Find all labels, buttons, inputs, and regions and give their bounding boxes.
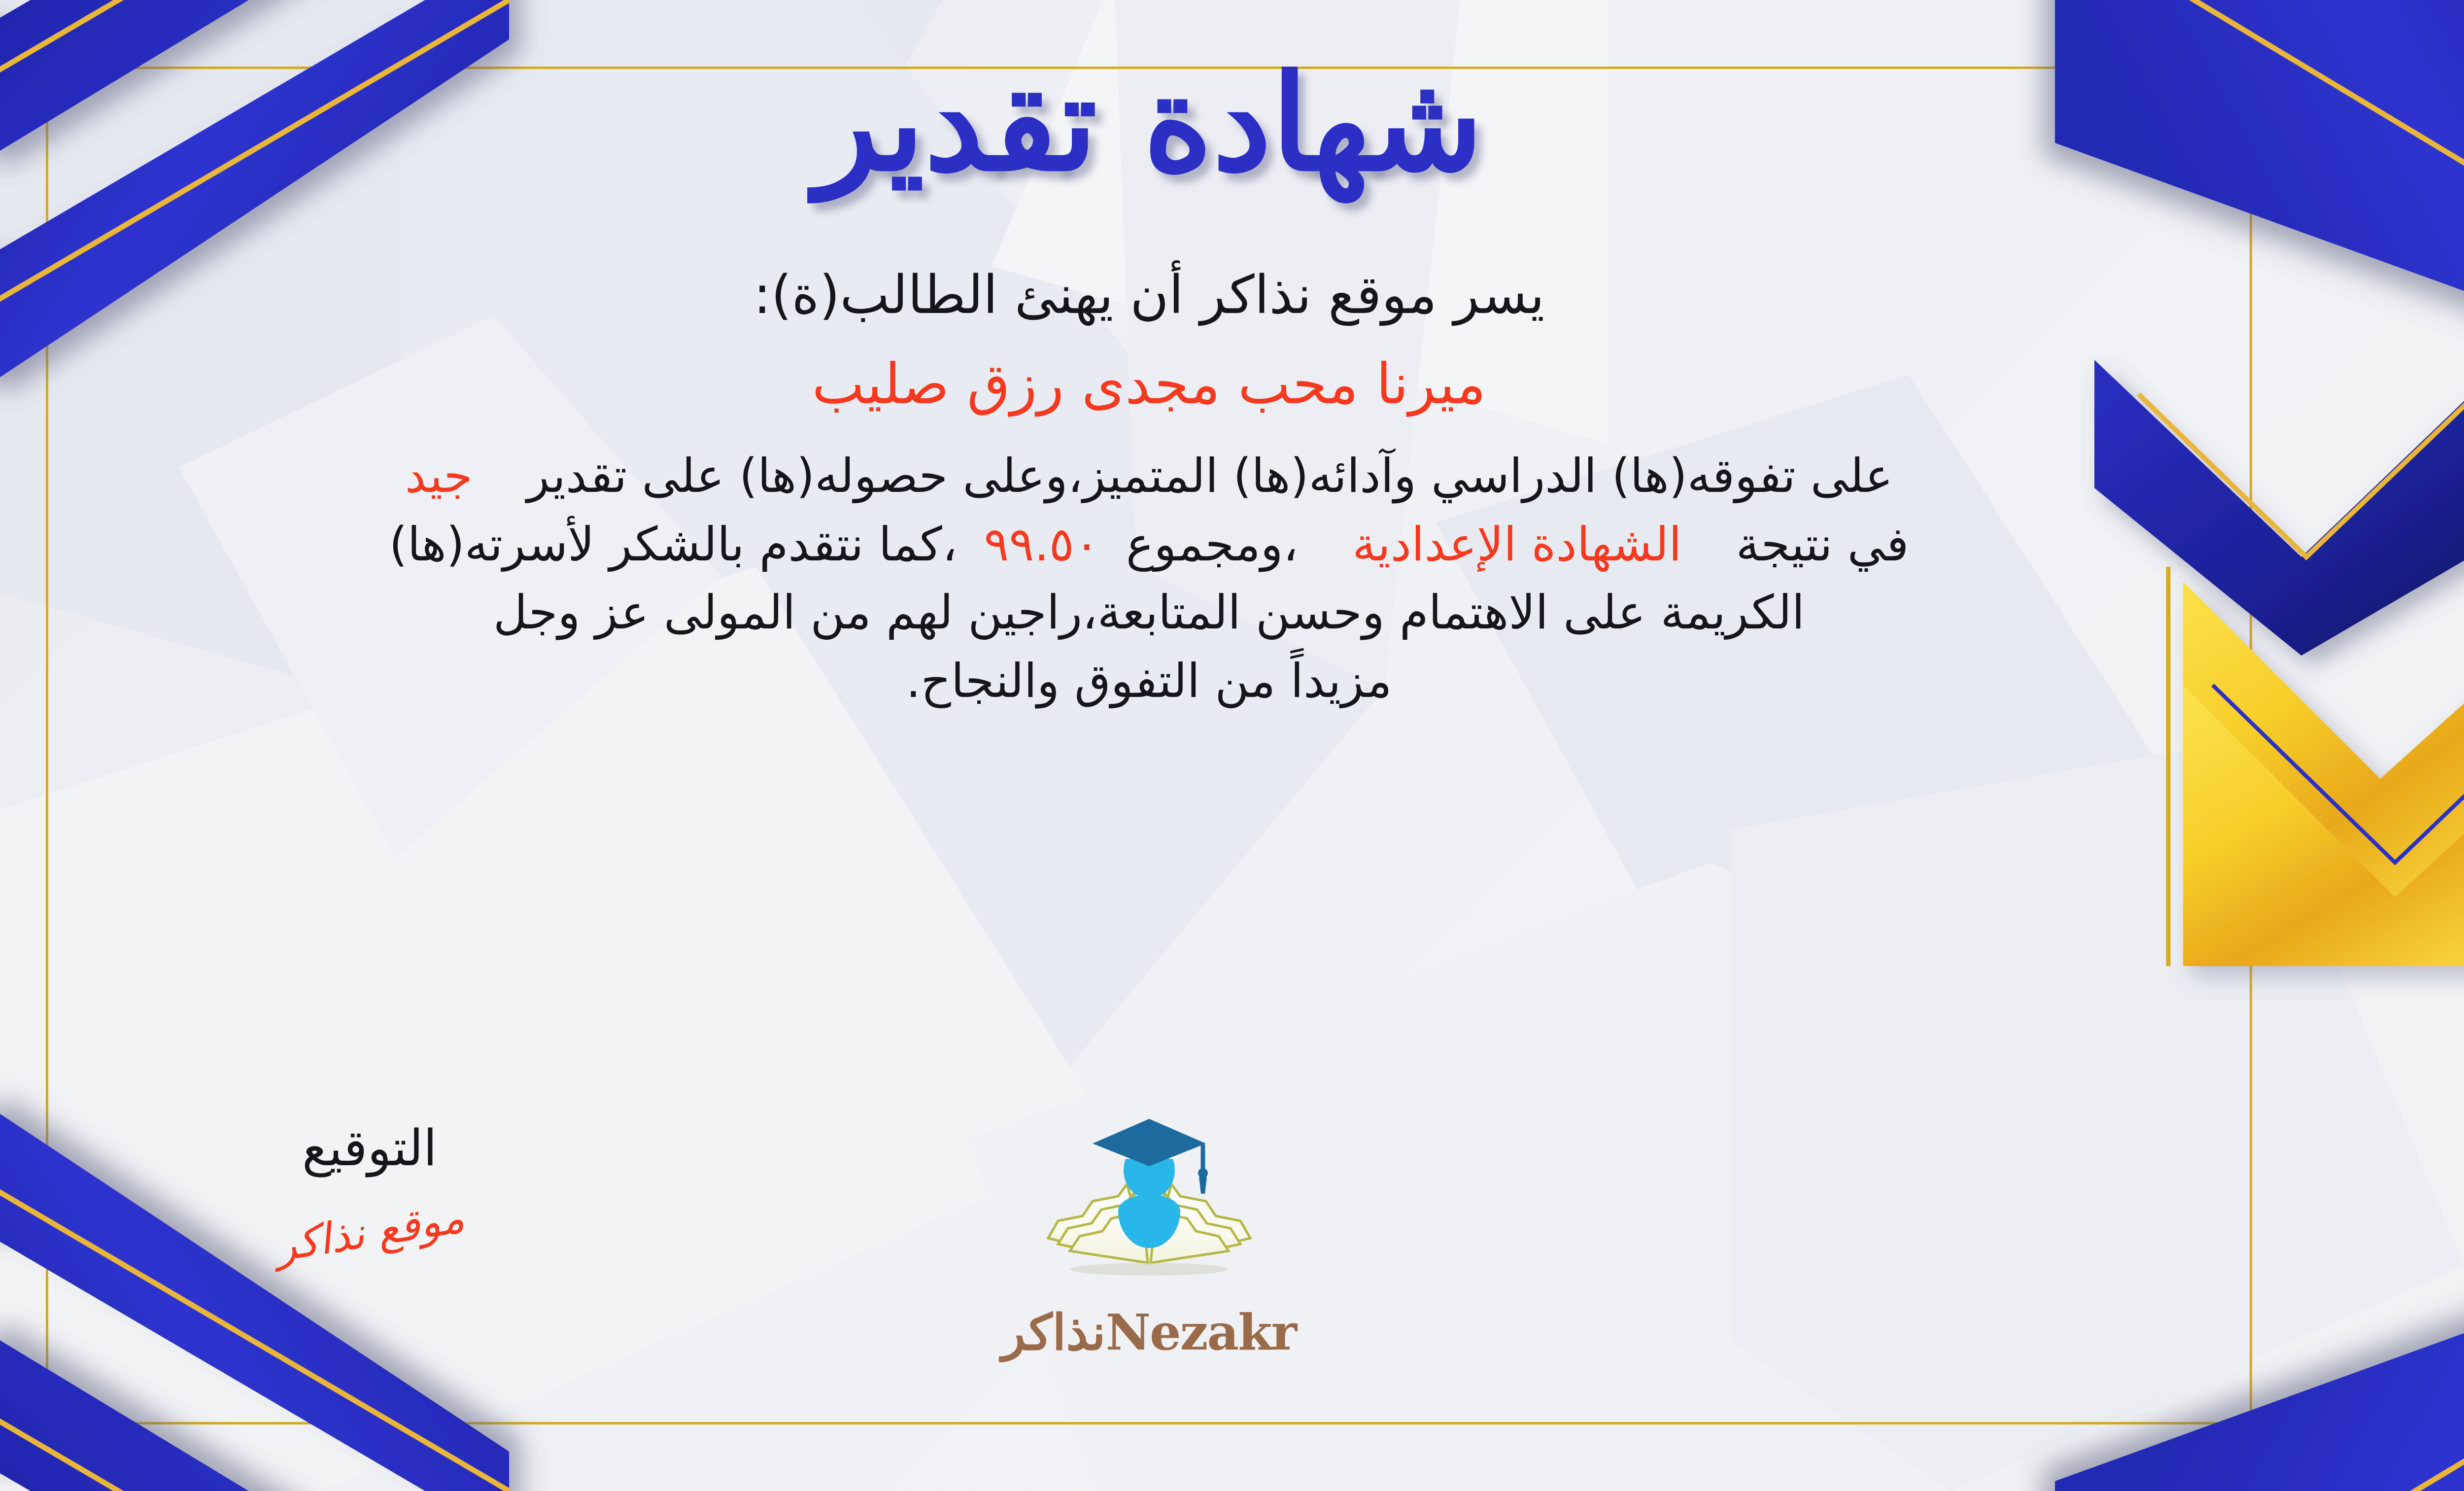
certificate-page: شهادة تقدير يسر موقع نذاكر أن يهنئ الطال… bbox=[0, 0, 2464, 1491]
student-name: ميرنا محب مجدى رزق صليب bbox=[812, 351, 1486, 416]
total-score: ٩٩.٥٠ bbox=[984, 511, 1099, 579]
logo-name-en: Nezakr bbox=[1106, 1303, 1297, 1361]
body-line-4-prefix: في نتيجة bbox=[1736, 511, 1909, 579]
certificate-name: الشهادة الإعدادية bbox=[1352, 511, 1681, 579]
body-line-4: في نتيجة الشهادة الإعدادية ،ومجموع ٩٩.٥٠… bbox=[53, 511, 2246, 579]
body-line-6: مزيداً من التفوق والنجاح. bbox=[53, 647, 2246, 716]
logo-wordmark: Nezakrنذاكر bbox=[962, 1303, 1336, 1361]
logo-name-ar: نذاكر bbox=[1002, 1303, 1106, 1361]
signature-block: التوقيع موقع نذاكر bbox=[197, 1119, 542, 1257]
certificate-body: على تفوقه(ها) الدراسي وآدائه(ها) المتميز… bbox=[53, 442, 2246, 716]
signature-label: التوقيع bbox=[197, 1119, 542, 1177]
graduate-book-icon bbox=[1033, 1115, 1265, 1312]
congratulation-line: يسر موقع نذاكر أن يهنئ الطالب(ة): bbox=[753, 265, 1545, 326]
brand-logo: Nezakrنذاكر bbox=[962, 1115, 1336, 1361]
page-title: شهادة تقدير bbox=[815, 57, 1483, 189]
body-line-3: على تفوقه(ها) الدراسي وآدائه(ها) المتميز… bbox=[53, 442, 2246, 511]
title-area: شهادة تقدير bbox=[0, 52, 2464, 195]
body-line-5: الكريمة على الاهتمام وحسن المتابعة،راجين… bbox=[53, 579, 2246, 647]
grade-value: جيد bbox=[405, 442, 473, 511]
body-line-4-middle: ،ومجموع bbox=[1126, 511, 1298, 579]
body-line-3-text: على تفوقه(ها) الدراسي وآدائه(ها) المتميز… bbox=[527, 442, 1893, 511]
signature-mark: موقع نذاكر bbox=[272, 1193, 468, 1271]
certificate-footer: التوقيع موقع نذاكر bbox=[0, 1119, 2464, 1415]
body-line-4-suffix: ،كما نتقدم بالشكر لأسرته(ها) bbox=[389, 511, 958, 579]
